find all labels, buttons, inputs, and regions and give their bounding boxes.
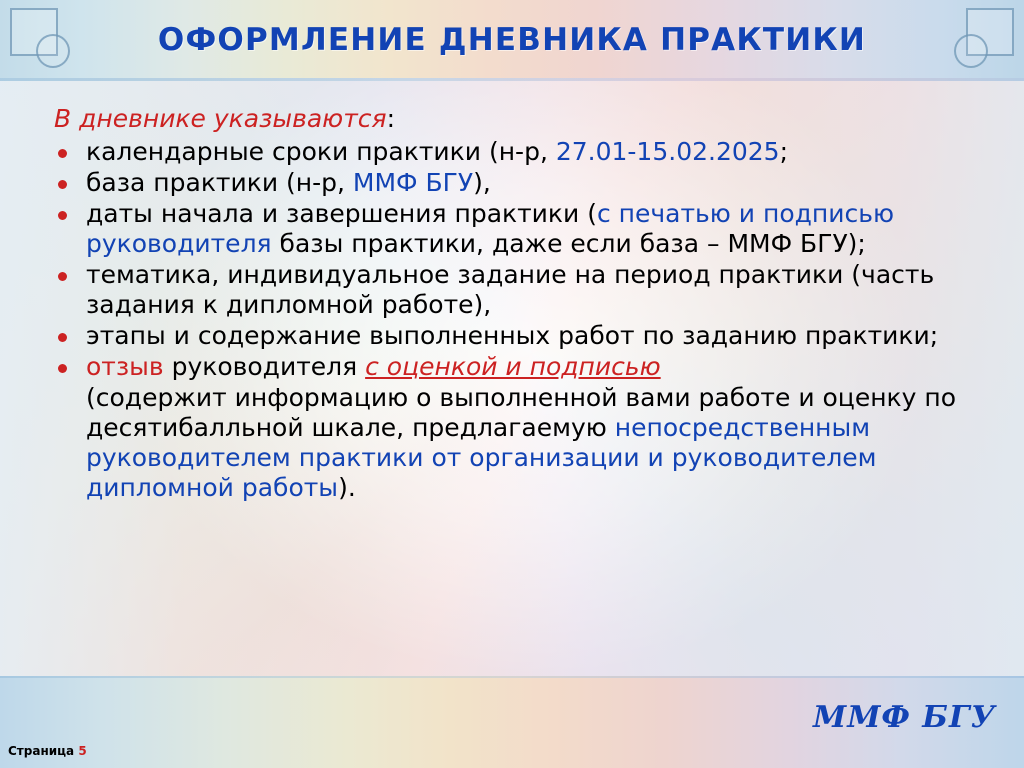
bullet-list: календарные сроки практики (н-р, 27.01-1… — [44, 137, 984, 503]
bullet-base-part-2: ), — [473, 168, 491, 197]
slide: ОФОРМЛЕНИЕ ДНЕВНИКА ПРАКТИКИ В дневнике … — [0, 0, 1024, 768]
bullet-review-cont-part-2: ). — [338, 473, 356, 502]
bullet-review: отзыв руководителя с оценкой и подписью — [44, 352, 984, 382]
bullet-review-part-0: отзыв — [86, 352, 164, 381]
footer-logo: ММФ БГУ — [813, 700, 996, 735]
circle-shape — [954, 34, 988, 68]
page-number: 5 — [78, 744, 86, 758]
bullet-topic-part-0: тематика, индивидуальное задание на пери… — [86, 260, 934, 319]
bullet-review-cont: (содержит информацию о выполненной вами … — [44, 383, 984, 503]
bullet-dates-part-0: календарные сроки практики (н-р, — [86, 137, 556, 166]
bullet-stages: этапы и содержание выполненных работ по … — [44, 321, 984, 351]
corner-ornament-top-right — [954, 8, 1014, 68]
circle-shape — [36, 34, 70, 68]
bullet-start-end: даты начала и завершения практики (с печ… — [44, 199, 984, 259]
lead-line: В дневнике указываются: — [54, 104, 984, 133]
footer-divider — [0, 676, 1024, 678]
bullet-review-part-1: руководителя — [164, 352, 365, 381]
lead-colon: : — [387, 104, 395, 133]
bullet-topic: тематика, индивидуальное задание на пери… — [44, 260, 984, 320]
bullet-base-part-0: база практики (н-р, — [86, 168, 353, 197]
bullet-dates-part-2: ; — [780, 137, 788, 166]
bullet-stages-part-0: этапы и содержание выполненных работ по … — [86, 321, 938, 350]
bullet-start-end-part-2: базы практики, даже если база – ММФ БГУ)… — [272, 229, 866, 258]
slide-content: В дневнике указываются: календарные срок… — [44, 96, 984, 504]
bullet-base-part-1: ММФ БГУ — [353, 168, 473, 197]
page-label-text: Страница — [8, 744, 74, 758]
header-divider — [0, 78, 1024, 81]
bullet-review-part-2: с оценкой и подписью — [365, 352, 661, 381]
bullet-dates: календарные сроки практики (н-р, 27.01-1… — [44, 137, 984, 167]
page-indicator: Страница 5 — [8, 744, 87, 758]
bullet-start-end-part-0: даты начала и завершения практики ( — [86, 199, 597, 228]
lead-text: В дневнике указываются — [54, 104, 387, 133]
bullet-base: база практики (н-р, ММФ БГУ), — [44, 168, 984, 198]
corner-ornament-top-left — [10, 8, 70, 68]
bullet-dates-part-1: 27.01-15.02.2025 — [556, 137, 780, 166]
slide-title: ОФОРМЛЕНИЕ ДНЕВНИКА ПРАКТИКИ — [0, 22, 1024, 58]
